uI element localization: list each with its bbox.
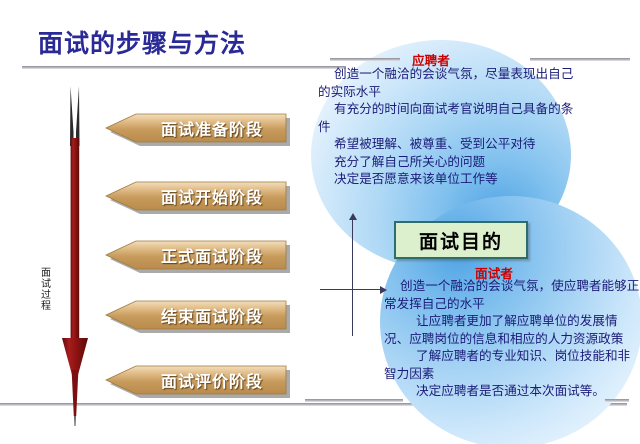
stage-label-1: 面试开始阶段	[100, 176, 294, 216]
interview-purpose-box: 面试目的	[394, 221, 528, 259]
title-divider	[22, 66, 346, 69]
page-title: 面试的步骤与方法	[38, 24, 246, 60]
stage-chevron-1[interactable]: 面试开始阶段	[100, 176, 294, 216]
interviewer-body-text: 创造一个融洽的会谈气氛，使应聘者能够正常发挥自己的水平 让应聘者更加了解应聘单位…	[384, 277, 640, 400]
stage-chevron-4[interactable]: 面试评价阶段	[100, 360, 294, 400]
connector-horizontal-line	[320, 289, 382, 290]
connector-vertical-line	[352, 219, 353, 336]
stage-label-4: 面试评价阶段	[100, 360, 294, 400]
applicant-heading-rule-right	[530, 58, 630, 61]
applicant-body-text: 创造一个融洽的会谈气氛，尽量表现出自己的实际水平 有充分的时间向面试考官说明自己…	[318, 65, 574, 188]
connector-right-arrow-icon	[380, 286, 387, 294]
process-down-arrow-icon	[58, 86, 92, 430]
applicant-heading-rule-left	[330, 58, 400, 61]
connector-up-arrow-icon	[349, 213, 357, 220]
stage-chevron-3[interactable]: 结束面试阶段	[100, 295, 294, 335]
stage-label-0: 面试准备阶段	[100, 108, 294, 148]
process-axis-label: 面试过程	[38, 268, 54, 312]
stage-chevron-2[interactable]: 正式面试阶段	[100, 235, 294, 275]
stage-chevron-0[interactable]: 面试准备阶段	[100, 108, 294, 148]
stage-label-3: 结束面试阶段	[100, 295, 294, 335]
stage-label-2: 正式面试阶段	[100, 235, 294, 275]
slide-canvas: 面试的步骤与方法 应聘者 创造一个融洽的会谈气氛，尽量表现出自己的实际水平 有充…	[0, 0, 640, 444]
